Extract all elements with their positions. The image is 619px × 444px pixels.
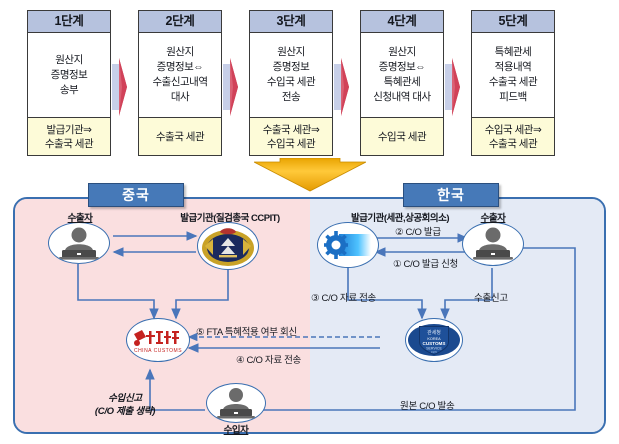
step-body-line: 신청내역 대사 bbox=[373, 90, 430, 105]
step-body: 원산지 증명정보 송부 bbox=[28, 33, 110, 117]
step-box-5: 5단계 특혜관세 적용내역 수출국 세관 피드백 수입국 세관⇒ 수출국 세관 bbox=[471, 10, 555, 156]
step-footer-line: 수출국 세관 bbox=[156, 130, 204, 144]
step-footer-line: 발급기관⇒ bbox=[47, 123, 92, 137]
kcs-service-wordmark: SERVICE bbox=[426, 347, 442, 351]
step-body: 원산지 증명정보⇔ 특혜관세 신청내역 대사 bbox=[361, 33, 443, 117]
china-customs-wordmark: CHINA CUSTOMS bbox=[134, 348, 182, 354]
label-china-exporter: 수출자 bbox=[52, 210, 108, 224]
kcs-korean-wordmark: 관세청 bbox=[427, 329, 441, 336]
step-body-line: 원산지 bbox=[55, 53, 82, 68]
step-body-line: 증명정보⇔ bbox=[379, 60, 426, 75]
step-body-line: 수입국 세관 bbox=[267, 75, 315, 90]
step-box-3: 3단계 원산지 증명정보 수입국 세관 전송 수출국 세관⇒ 수입국 세관 bbox=[249, 10, 333, 156]
step-arrow-3-to-4 bbox=[333, 58, 355, 116]
label-fta-reply: ⑤ FTA 특혜적용 여부 회신 bbox=[196, 324, 297, 338]
step-body-line: 특혜관세 bbox=[495, 45, 532, 60]
step-body: 특혜관세 적용내역 수출국 세관 피드백 bbox=[472, 33, 554, 117]
step-body-line: 수출국 세관 bbox=[489, 75, 537, 90]
step-body-line: 증명정보⇔ bbox=[157, 60, 204, 75]
country-tag-china: 중국 bbox=[88, 183, 184, 207]
label-co-data-transfer: ④ C/O 자료 전송 bbox=[236, 352, 301, 366]
kcs-year-wordmark: 1970 bbox=[431, 350, 437, 354]
step-body: 원산지 증명정보⇔ 수출신고내역 대사 bbox=[139, 33, 221, 117]
label-china-issuer: 발급기관(질검총국 CCPIT) bbox=[135, 210, 325, 224]
step-body-line: 원산지 bbox=[388, 45, 415, 60]
korea-exporter-person-icon bbox=[462, 222, 524, 266]
step-box-2: 2단계 원산지 증명정보⇔ 수출신고내역 대사 수출국 세관 bbox=[138, 10, 222, 156]
step-footer-line: 수입국 세관⇒ bbox=[485, 123, 542, 137]
process-steps-row: 1단계 원산지 증명정보 송부 발급기관⇒ 수출국 세관 2단계 원산지 증명정… bbox=[0, 0, 619, 160]
step-body-line: 대사 bbox=[171, 90, 189, 105]
china-exporter-person-icon bbox=[48, 222, 110, 264]
step-title: 4단계 bbox=[361, 11, 443, 33]
step-title: 2단계 bbox=[139, 11, 221, 33]
step-body-line: 증명정보 bbox=[51, 68, 88, 83]
step-footer-line: 수출국 세관 bbox=[45, 137, 93, 151]
kcs-customs-wordmark: CUSTOMS bbox=[423, 341, 446, 346]
step-title: 5단계 bbox=[472, 11, 554, 33]
step-footer: 수출국 세관⇒ 수입국 세관 bbox=[250, 117, 332, 155]
korea-issuer-gear-icon bbox=[317, 222, 379, 268]
step-box-1: 1단계 원산지 증명정보 송부 발급기관⇒ 수출국 세관 bbox=[27, 10, 111, 156]
label-korea-exporter: 수출자 bbox=[465, 210, 521, 224]
label-export-declaration: 수출신고 bbox=[474, 290, 508, 304]
step-body-line: 특혜관세 bbox=[384, 75, 421, 90]
step-title: 3단계 bbox=[250, 11, 332, 33]
label-co-request: ① C/O 발급 신청 bbox=[393, 256, 458, 270]
label-original-co-send: 원본 C/O 발송 bbox=[400, 398, 454, 412]
step-body-line: 피드백 bbox=[499, 90, 526, 105]
step-footer: 수입국 세관 bbox=[361, 117, 443, 155]
step-arrow-1-to-2 bbox=[111, 58, 133, 116]
step-body-line: 수출신고내역 bbox=[153, 75, 208, 90]
step-footer-line: 수출국 세관 bbox=[489, 137, 537, 151]
step-title: 1단계 bbox=[28, 11, 110, 33]
label-co-transfer: ③ C/O 자료 전송 bbox=[311, 290, 376, 304]
import-declaration-line: (C/O 제출 생략) bbox=[55, 405, 195, 418]
step-body-line: 전송 bbox=[282, 90, 300, 105]
import-declaration-line: 수입신고 bbox=[55, 392, 195, 405]
step-body-line: 원산지 bbox=[166, 45, 193, 60]
step-body-line: 원산지 bbox=[277, 45, 304, 60]
step-arrow-2-to-3 bbox=[222, 58, 244, 116]
label-china-importer: 수입자 bbox=[208, 422, 264, 436]
china-customs-logo-icon: CHINA CUSTOMS bbox=[126, 318, 190, 362]
step-footer: 발급기관⇒ 수출국 세관 bbox=[28, 117, 110, 155]
step-footer: 수입국 세관⇒ 수출국 세관 bbox=[472, 117, 554, 155]
yellow-down-arrow-icon bbox=[254, 158, 366, 192]
label-co-issue: ② C/O 발급 bbox=[395, 224, 441, 238]
step-footer-line: 수입국 세관 bbox=[378, 130, 426, 144]
ccpit-emblem-icon bbox=[197, 222, 259, 270]
step-body-line: 적용내역 bbox=[495, 60, 532, 75]
step-footer-line: 수입국 세관 bbox=[267, 137, 315, 151]
china-importer-person-icon bbox=[206, 383, 266, 423]
step-box-4: 4단계 원산지 증명정보⇔ 특혜관세 신청내역 대사 수입국 세관 bbox=[360, 10, 444, 156]
step-body-line: 증명정보 bbox=[273, 60, 310, 75]
step-body: 원산지 증명정보 수입국 세관 전송 bbox=[250, 33, 332, 117]
step-footer: 수출국 세관 bbox=[139, 117, 221, 155]
country-tag-korea: 한국 bbox=[403, 183, 499, 207]
step-footer-line: 수출국 세관⇒ bbox=[263, 123, 320, 137]
step-arrow-4-to-5 bbox=[444, 58, 466, 116]
korea-customs-service-logo-icon: 관세청 KOREA CUSTOMS SERVICE 1970 bbox=[405, 318, 463, 362]
label-import-declaration: 수입신고 (C/O 제출 생략) bbox=[55, 392, 195, 418]
step-body-line: 송부 bbox=[60, 83, 78, 98]
